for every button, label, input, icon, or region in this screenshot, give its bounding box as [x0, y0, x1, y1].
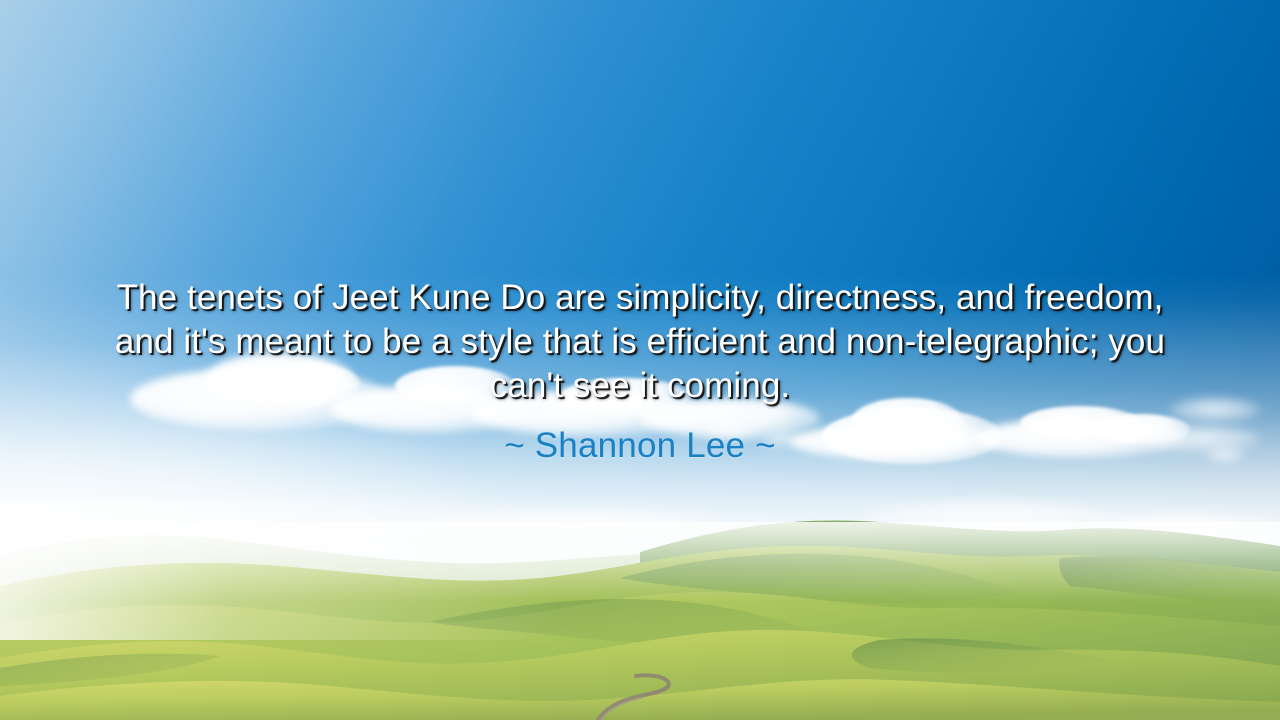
- quote-text: The tenets of Jeet Kune Do are simplicit…: [110, 276, 1170, 408]
- hill-left-haze: [0, 500, 560, 640]
- quote-card: The tenets of Jeet Kune Do are simplicit…: [0, 0, 1280, 720]
- quote-block: The tenets of Jeet Kune Do are simplicit…: [0, 276, 1280, 468]
- quote-author: ~ Shannon Lee ~: [110, 424, 1170, 468]
- rolling-hills: [0, 500, 1280, 720]
